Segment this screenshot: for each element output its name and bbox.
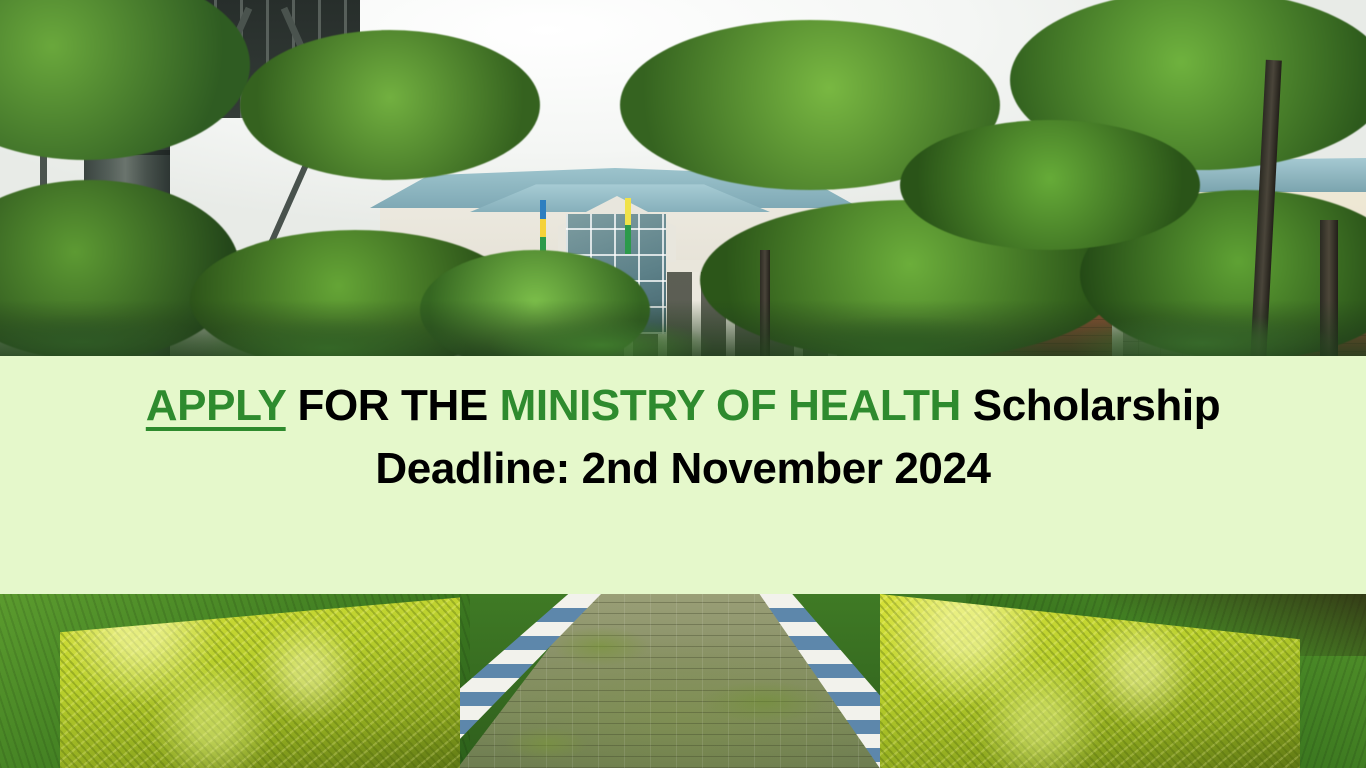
announcement-banner: APPLY FOR THE MINISTRY OF HEALTH Scholar… — [0, 356, 1366, 594]
deadline-text: Deadline: 2nd November 2024 — [0, 444, 1366, 494]
flag-rwanda — [540, 200, 546, 256]
scholarship-poster: APPLY FOR THE MINISTRY OF HEALTH Scholar… — [0, 0, 1366, 768]
apply-link[interactable]: APPLY — [146, 381, 286, 430]
foreground-shrub-band — [0, 300, 1366, 360]
headline-suffix: Scholarship — [961, 381, 1220, 430]
headline: APPLY FOR THE MINISTRY OF HEALTH Scholar… — [0, 383, 1366, 429]
flag-secondary — [625, 198, 631, 254]
organization-name: MINISTRY OF HEALTH — [500, 381, 961, 430]
garden-foreground — [0, 594, 1366, 768]
tree-canopy — [240, 30, 540, 180]
headline-connector: FOR THE — [286, 381, 500, 430]
tree-canopy — [900, 120, 1200, 250]
